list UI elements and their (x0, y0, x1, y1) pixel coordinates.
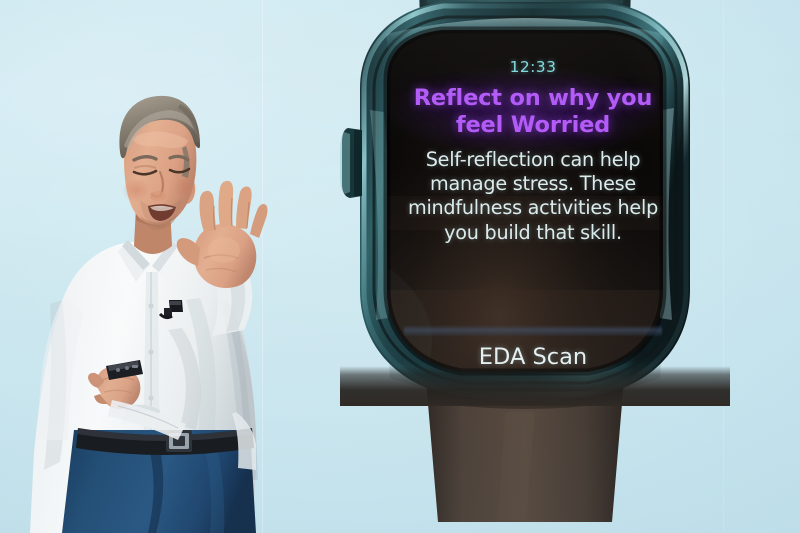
presenter-head (119, 96, 200, 254)
status-time: 12:33 (388, 58, 678, 76)
side-button[interactable] (340, 128, 362, 198)
screen-body-text: Self-reflection can help manage stress. … (388, 148, 678, 245)
eda-scan-label[interactable]: EDA Scan (388, 344, 678, 370)
presenter (0, 0, 330, 533)
screen-divider (404, 325, 662, 336)
screenshot-root: 12:33 Reflect on why you feel Worried Se… (0, 0, 800, 533)
screen-headline: Reflect on why you feel Worried (388, 85, 678, 139)
watch-strap-bottom (426, 380, 624, 522)
watch-screen-content: 12:33 Reflect on why you feel Worried Se… (388, 58, 678, 245)
